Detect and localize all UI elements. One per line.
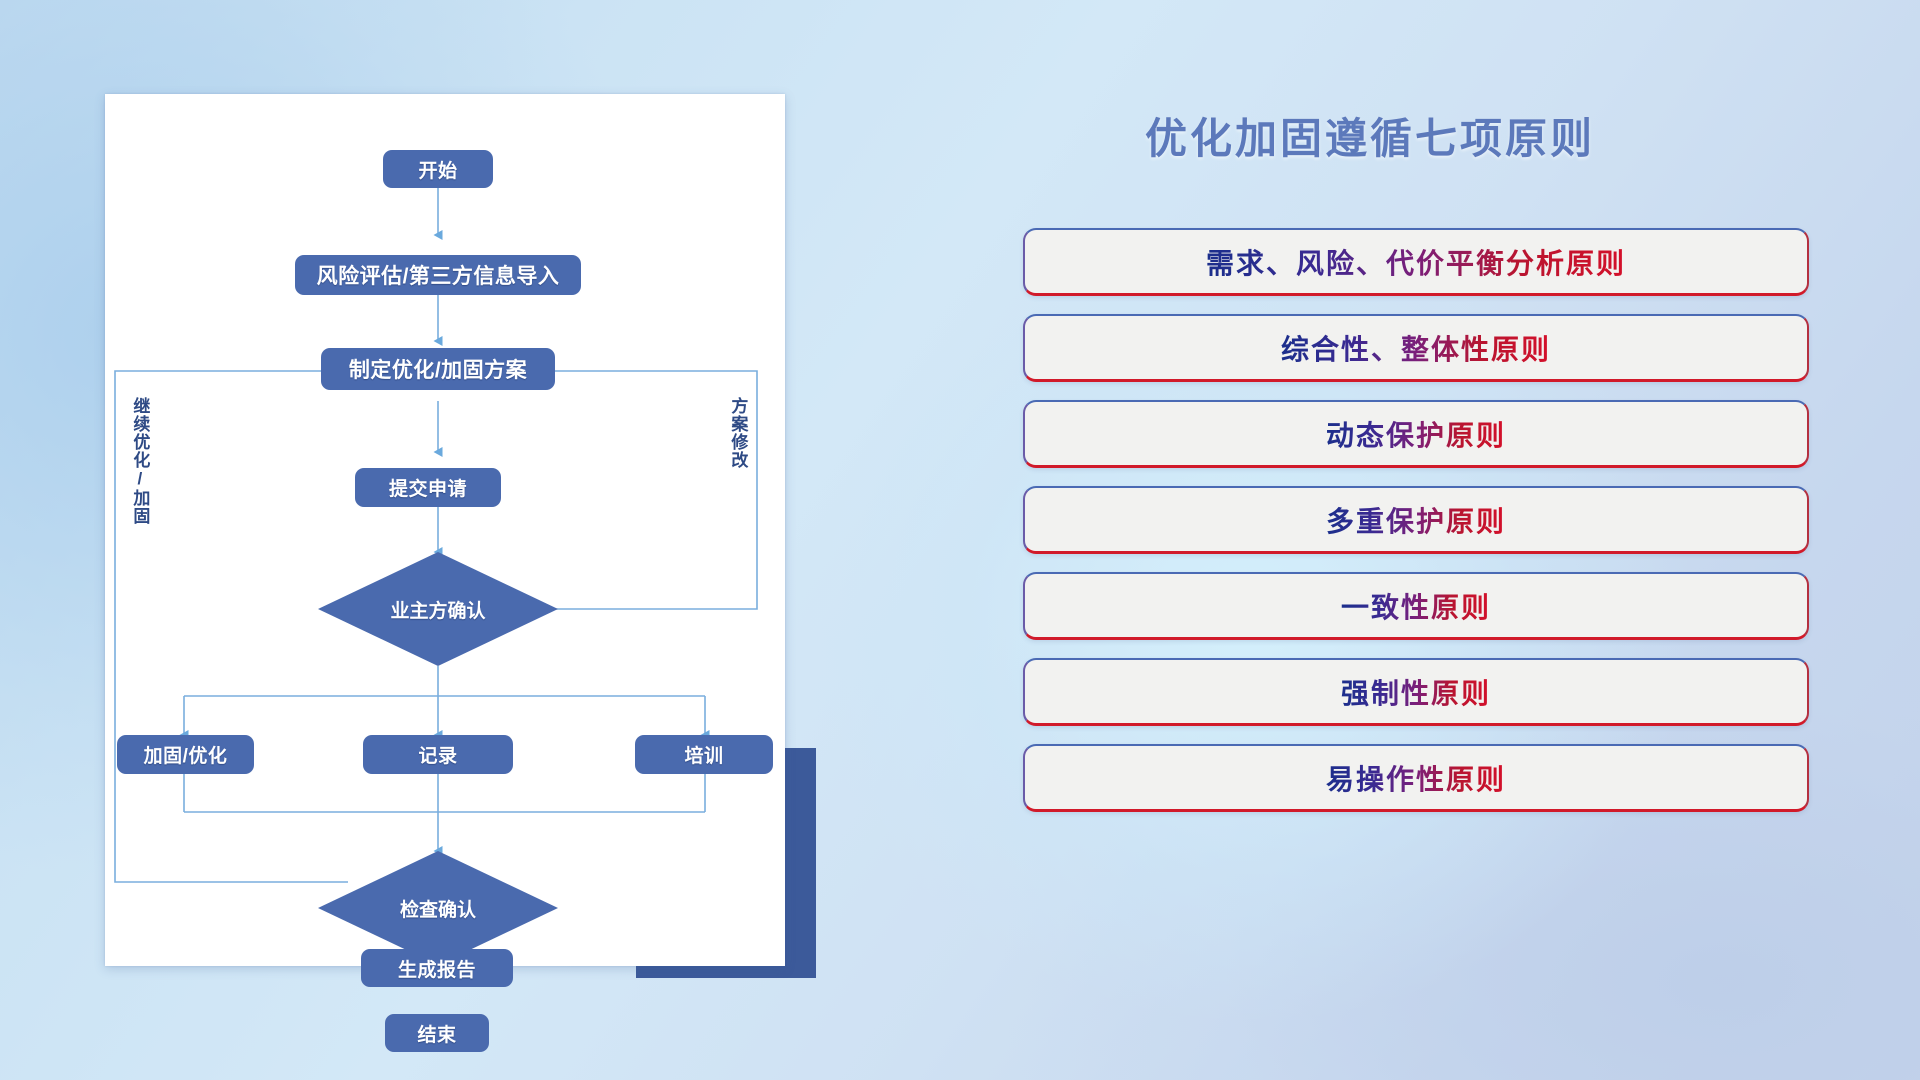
- principle-item-7[interactable]: 易操作性原则: [1023, 744, 1809, 812]
- flow-node-end[interactable]: 结束: [385, 1014, 489, 1052]
- flow-node-check-confirm-label: 检查确认: [400, 895, 476, 922]
- flow-node-start[interactable]: 开始: [383, 150, 493, 188]
- principle-item-3[interactable]: 动态保护原则: [1023, 400, 1809, 468]
- principle-item-2[interactable]: 综合性、整体性原则: [1023, 314, 1809, 382]
- flowchart-connectors: [105, 94, 785, 966]
- flow-node-risk-assessment[interactable]: 风险评估/第三方信息导入: [295, 255, 581, 295]
- flow-node-plan[interactable]: 制定优化/加固方案: [321, 348, 555, 390]
- edge-label-continue-optimize: 继续优化/加固: [131, 397, 148, 552]
- flow-node-training[interactable]: 培训: [635, 735, 773, 774]
- flowchart-card: 开始 风险评估/第三方信息导入 制定优化/加固方案 提交申请 业主方确认 加固/…: [105, 94, 785, 966]
- flow-node-submit-application[interactable]: 提交申请: [355, 468, 501, 507]
- principle-item-5[interactable]: 一致性原则: [1023, 572, 1809, 640]
- principle-list: 需求、风险、代价平衡分析原则 综合性、整体性原则 动态保护原则 多重保护原则 一…: [1023, 228, 1809, 830]
- principle-label: 一致性原则: [1341, 586, 1491, 626]
- principle-item-1[interactable]: 需求、风险、代价平衡分析原则: [1023, 228, 1809, 296]
- principle-label: 综合性、整体性原则: [1281, 328, 1551, 368]
- principle-label: 多重保护原则: [1326, 500, 1506, 540]
- flow-node-check-confirm[interactable]: 检查确认: [318, 851, 558, 965]
- principle-item-6[interactable]: 强制性原则: [1023, 658, 1809, 726]
- flow-node-owner-confirm[interactable]: 业主方确认: [318, 552, 558, 666]
- flow-node-reinforce[interactable]: 加固/优化: [117, 735, 254, 774]
- page-title: 优化加固遵循七项原则: [1020, 105, 1720, 166]
- slide-canvas: 开始 风险评估/第三方信息导入 制定优化/加固方案 提交申请 业主方确认 加固/…: [0, 0, 1920, 1080]
- principle-label: 需求、风险、代价平衡分析原则: [1206, 242, 1626, 282]
- flow-node-record[interactable]: 记录: [363, 735, 513, 774]
- principle-label: 易操作性原则: [1326, 758, 1506, 798]
- flow-node-generate-report[interactable]: 生成报告: [361, 949, 513, 987]
- principle-label: 动态保护原则: [1326, 414, 1506, 454]
- edge-label-plan-revision: 方案修改: [729, 397, 746, 507]
- principle-label: 强制性原则: [1341, 672, 1491, 712]
- flow-node-owner-confirm-label: 业主方确认: [390, 596, 485, 623]
- principle-item-4[interactable]: 多重保护原则: [1023, 486, 1809, 554]
